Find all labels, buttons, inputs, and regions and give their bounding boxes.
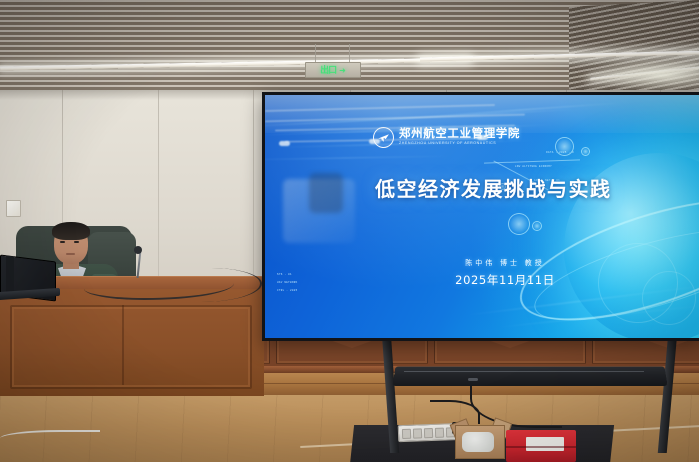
exit-arrow-icon: ➜ bbox=[339, 66, 346, 75]
tv-stand-shelf-marking bbox=[468, 378, 478, 381]
podium-inset-molding bbox=[10, 305, 252, 389]
microphone-head bbox=[134, 246, 142, 254]
slide-title: 低空经济发展挑战与实践 bbox=[375, 179, 635, 199]
exit-sign-rod bbox=[315, 44, 316, 64]
exit-sign-rod bbox=[349, 44, 350, 64]
ceiling-light-glow bbox=[579, 60, 699, 94]
slide-light-streak bbox=[265, 155, 455, 161]
podium-front-panel bbox=[0, 289, 264, 396]
orbital-ring bbox=[642, 271, 696, 325]
red-case-label bbox=[526, 437, 564, 451]
tv-stand-shelf-edge bbox=[404, 371, 644, 372]
university-name-en: ZHENGZHOU UNIVERSITY OF AERONAUTICS bbox=[399, 142, 520, 146]
hud-readout: DATA · 2025 · 0 bbox=[546, 151, 574, 155]
person-mouth bbox=[66, 253, 75, 255]
power-socket[interactable] bbox=[402, 428, 411, 438]
conference-room-photo: 出口 ➜ bbox=[0, 0, 699, 462]
exit-label: 出口 bbox=[320, 66, 336, 75]
person-hair bbox=[52, 222, 90, 240]
screen-reflection-light bbox=[279, 141, 290, 146]
red-case-seam bbox=[506, 446, 576, 448]
hud-readout: UAV NETWORK bbox=[277, 281, 297, 285]
screen-reflection-person bbox=[309, 173, 343, 213]
flat-panel-display[interactable]: DATA · 2025 · 0 LOW ALTITUDE ECONOMY AIR… bbox=[262, 92, 699, 341]
power-socket[interactable] bbox=[424, 427, 433, 437]
hud-readout: SYS · 01 bbox=[277, 273, 292, 277]
screen-reflection-light bbox=[477, 135, 488, 140]
hud-readout: CTRL · 2025 bbox=[277, 289, 297, 293]
slide-presenter: 陈中伟 博士 教授 bbox=[415, 258, 595, 268]
light-switch[interactable] bbox=[6, 200, 21, 217]
screen-reflection-light bbox=[369, 139, 380, 144]
power-socket[interactable] bbox=[413, 428, 422, 438]
person-eye bbox=[74, 241, 79, 243]
emergency-exit-sign: 出口 ➜ bbox=[305, 56, 359, 76]
hud-node bbox=[581, 147, 590, 156]
floor-cable bbox=[0, 430, 100, 444]
hud-node bbox=[532, 221, 542, 231]
power-socket[interactable] bbox=[435, 427, 444, 437]
airplane-emblem-icon bbox=[373, 127, 394, 148]
hud-readout: LOW ALTITUDE ECONOMY bbox=[515, 165, 552, 169]
podium-inset-divider bbox=[122, 305, 124, 385]
person-eye bbox=[60, 241, 65, 243]
tv-stand-shelf bbox=[392, 366, 667, 386]
slide-date: 2025年11月11日 bbox=[415, 272, 595, 288]
box-contents bbox=[462, 432, 494, 452]
display-screen[interactable]: DATA · 2025 · 0 LOW ALTITUDE ECONOMY AIR… bbox=[265, 95, 699, 338]
wood-floor bbox=[0, 395, 699, 462]
hud-node bbox=[508, 213, 530, 235]
exit-sign-box: 出口 ➜ bbox=[305, 62, 361, 78]
